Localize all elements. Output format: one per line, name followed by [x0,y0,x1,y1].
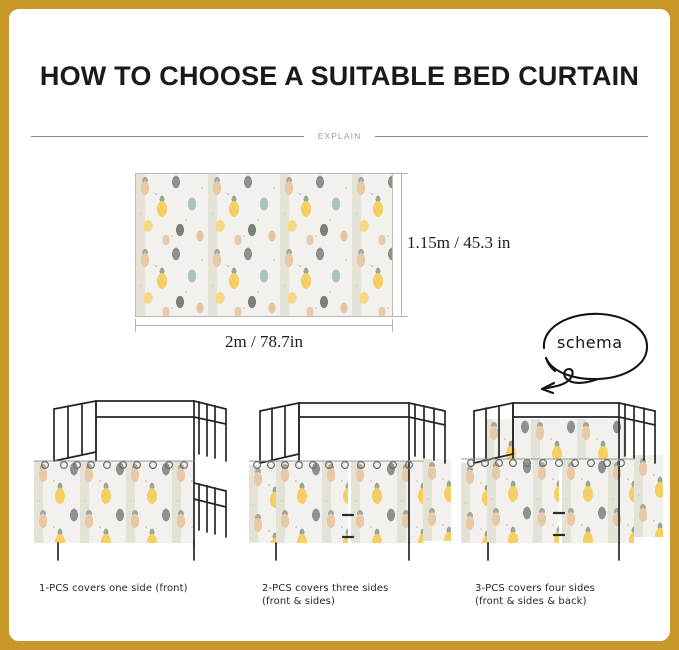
diagram-bed-1pcs [31,397,236,565]
width-dimension-label: 2m / 78.7in [135,332,393,352]
page-title: HOW TO CHOOSE A SUITABLE BED CURTAIN [9,61,670,92]
poster-card: HOW TO CHOOSE A SUITABLE BED CURTAIN EXP… [9,9,670,641]
width-dimension-line [135,325,393,326]
caption-bed-1pcs: 1-PCS covers one side (front) [39,582,188,595]
caption-bed-2pcs: 2-PCS covers three sides (front & sides) [262,582,388,608]
diagram-bed-3pcs [461,397,666,565]
height-dimension-label: 1.15m / 45.3 in [407,233,510,253]
height-dimension-cap-top [395,173,408,174]
fabric-swatch-container [135,173,393,317]
caption-bed-3pcs: 3-PCS covers four sides (front & sides &… [475,582,595,608]
diagram-bed-2pcs [249,397,454,565]
width-dimension-cap-left [135,319,136,332]
divider-rule-left [31,136,304,137]
bed-frame-icon [31,397,236,565]
height-dimension-cap-bottom [395,316,408,317]
bed-frame-icon [249,397,454,565]
height-dimension-line [401,173,402,317]
bed-frame-icon [461,397,666,565]
divider-label: EXPLAIN [304,131,376,141]
divider-rule-right [375,136,648,137]
fabric-swatch [135,173,393,317]
schema-label: schema [557,333,623,352]
explain-divider: EXPLAIN [31,129,648,143]
width-dimension-cap-right [392,319,393,332]
schema-callout: schema [524,304,664,399]
